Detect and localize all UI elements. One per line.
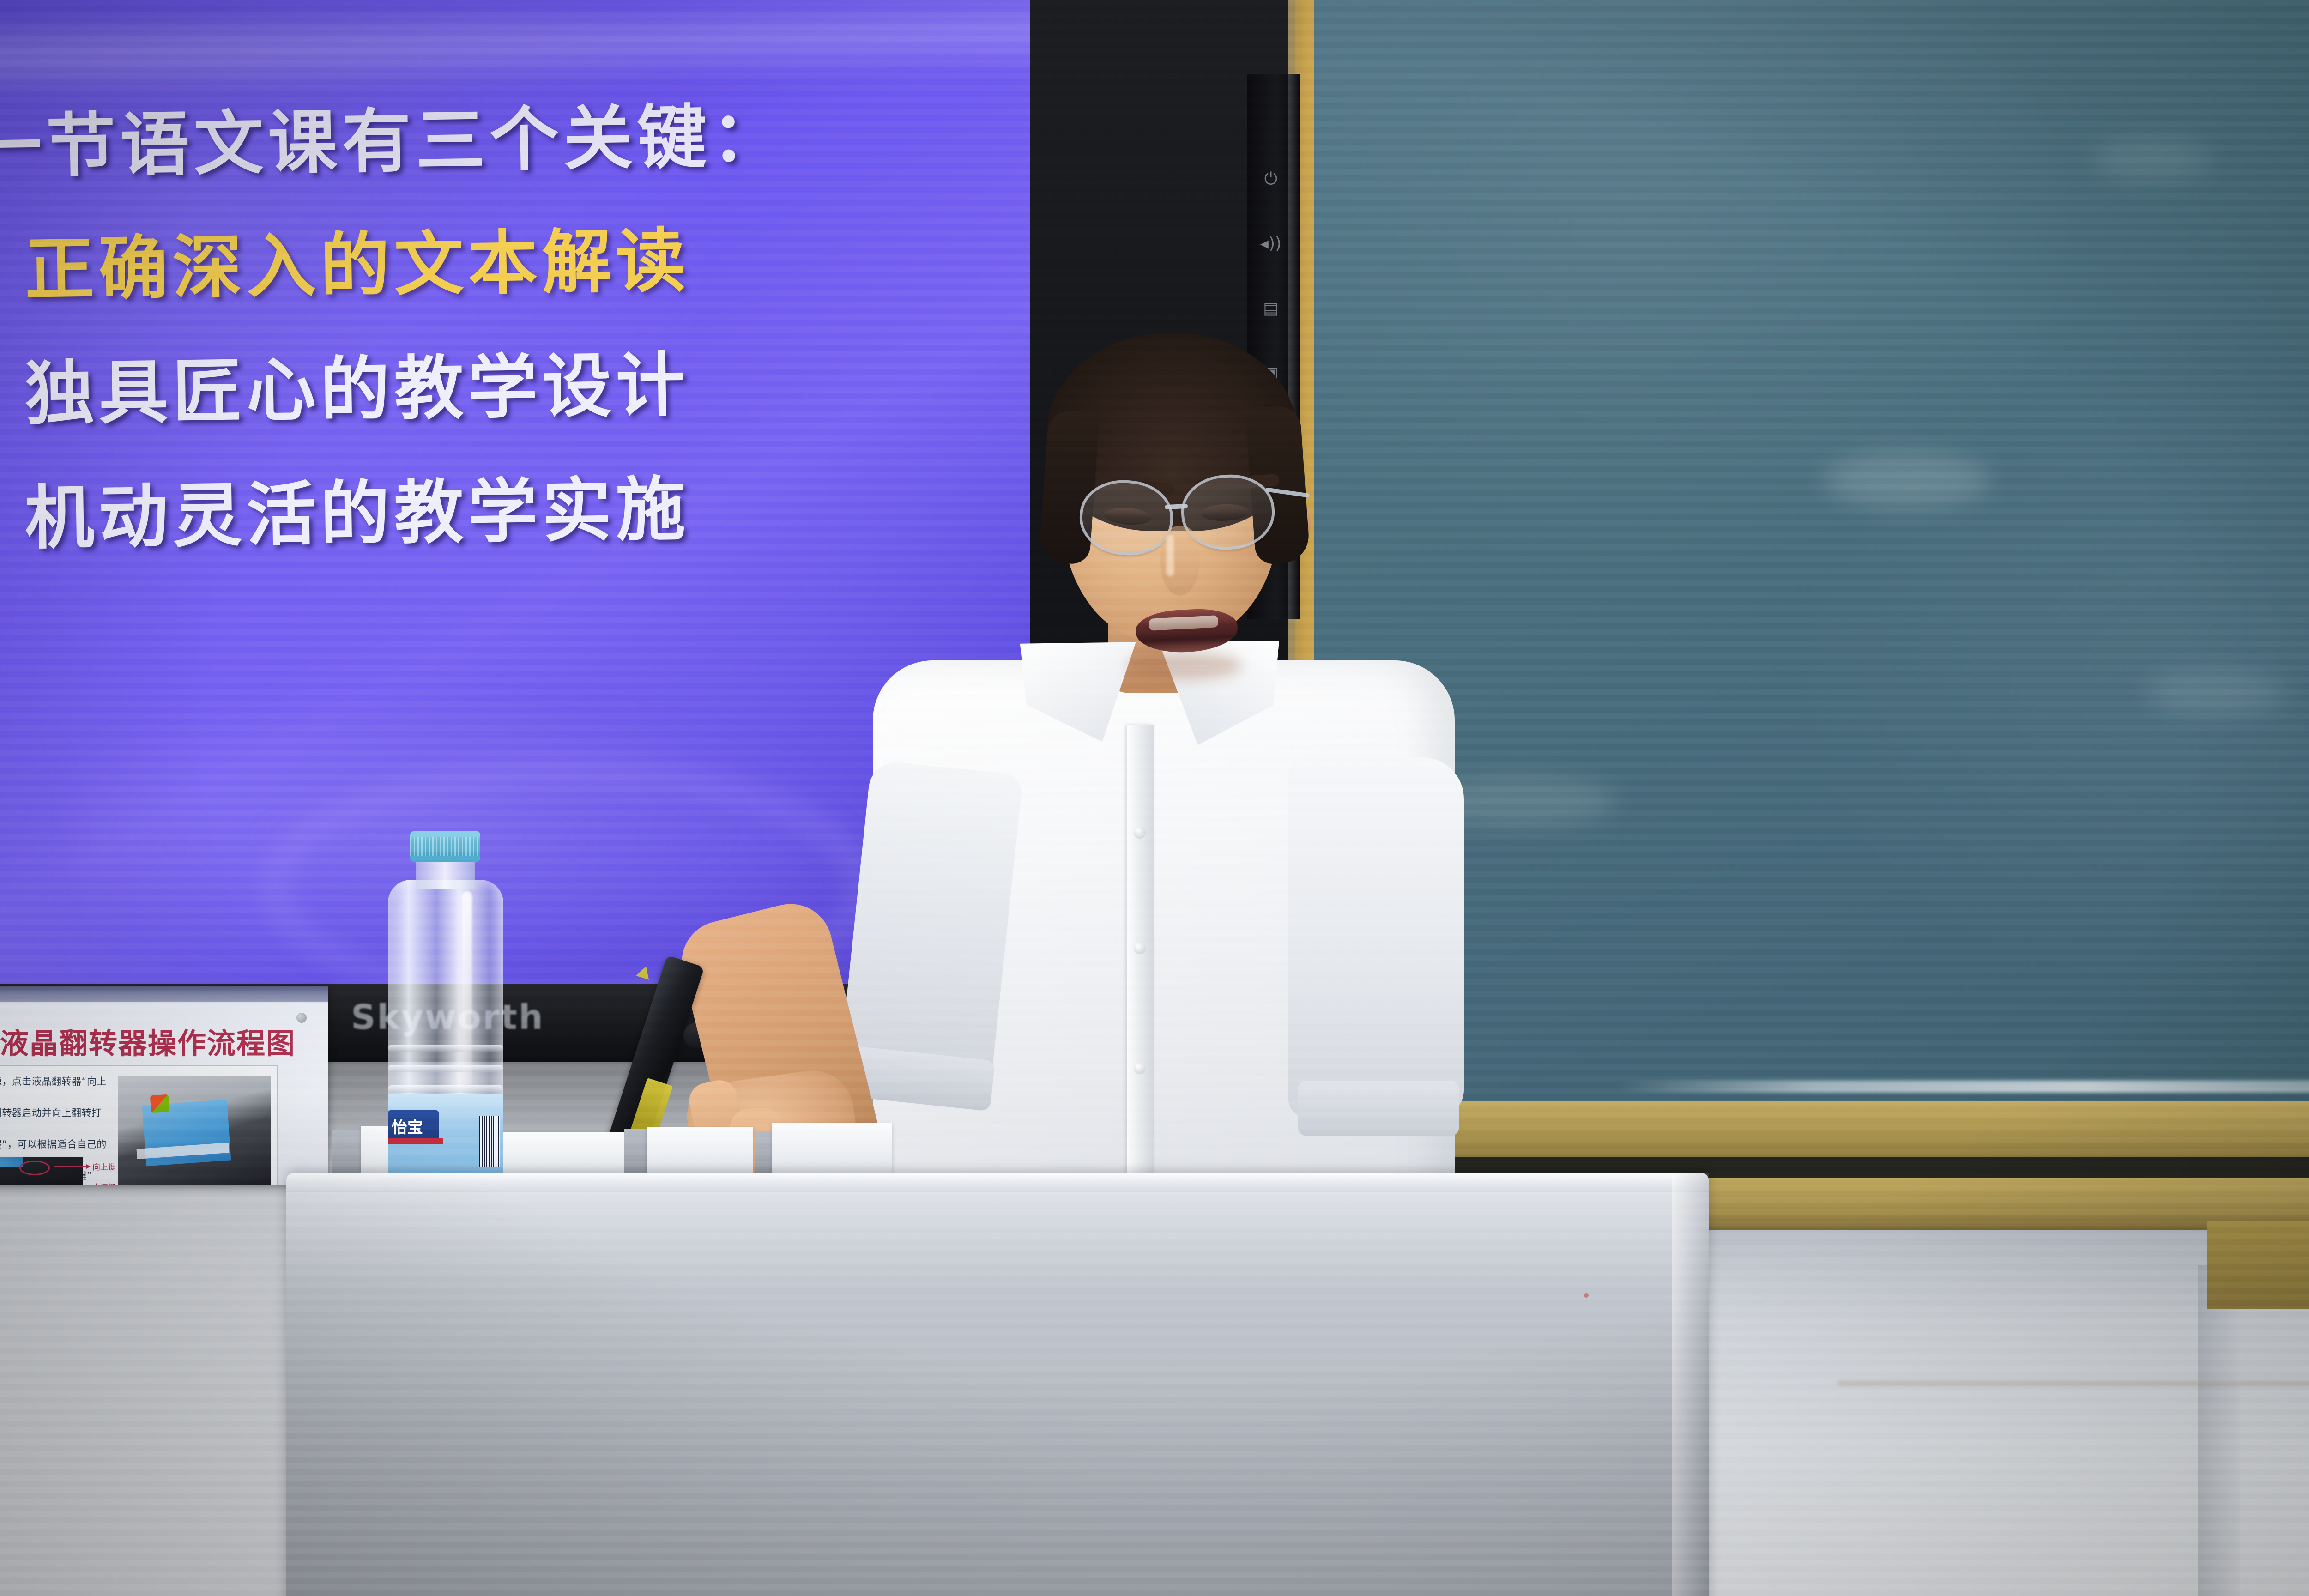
chin-shadow <box>1127 652 1242 680</box>
lectern-top-edge <box>286 1173 1709 1192</box>
bottle-ridge <box>388 1085 503 1093</box>
bottle-ridge <box>388 1065 503 1072</box>
slide-bullet-1: 1. 正确深入的文本解读 <box>0 200 989 316</box>
classroom-photo: 好一节语文课有三个关键： 1. 正确深入的文本解读 2. 独具匠心的教学设计 3… <box>0 0 2309 1596</box>
chalk-dust-line <box>1616 1081 2309 1093</box>
windows-logo-icon <box>150 1094 170 1113</box>
barcode-icon <box>479 1116 500 1167</box>
sign-photo-monitor <box>118 1076 271 1185</box>
right-sleeve <box>1288 757 1464 1118</box>
bottle-label: 怡宝 <box>388 1094 503 1181</box>
nose-highlight <box>1167 535 1174 576</box>
wall-pillar <box>2198 1265 2240 1596</box>
chalk-smudge <box>1824 453 1990 508</box>
label-red-stripe <box>388 1138 443 1144</box>
bottle-brand-text: 怡宝 <box>392 1115 438 1137</box>
shirt-button <box>1134 1062 1146 1074</box>
lcd-flipper-instruction-sign: 液晶翻转器操作流程图 …电源，点击液晶翻转器“向上键” …晶翻转器启动并向上翻转… <box>0 986 328 1185</box>
shirt-button <box>1134 942 1146 954</box>
highlight-ellipse <box>19 1161 50 1175</box>
lectern-side-edge <box>1672 1173 1709 1596</box>
bottle-cap-ribs <box>410 837 480 856</box>
menu-icon[interactable]: ▤ <box>1257 296 1285 321</box>
pushpin-icon <box>296 1013 307 1023</box>
lectern <box>286 1173 1709 1596</box>
chalk-smudge <box>2092 139 2212 180</box>
power-icon[interactable]: ⏻ <box>1257 166 1285 192</box>
bottle-highlight <box>462 891 472 1085</box>
slide-title: 好一节语文课有三个关键： <box>0 77 989 193</box>
shirt-button <box>1134 827 1146 839</box>
chalk-smudge <box>2147 670 2286 716</box>
chalk-tray-bracket <box>2207 1221 2309 1309</box>
sign-top-band <box>0 986 328 1002</box>
right-cuff <box>1298 1081 1459 1136</box>
sign-annotation-up: 向上键 <box>92 1161 116 1172</box>
volume-icon[interactable]: ◂)) <box>1257 231 1285 257</box>
lectern-speck <box>1584 1293 1589 1298</box>
bottle-neck <box>416 858 475 889</box>
bottle-ridge <box>388 1045 503 1052</box>
nose <box>1160 526 1200 596</box>
sign-annotation-mid: 中间键 <box>92 1181 116 1185</box>
sign-title: 液晶翻转器操作流程图 <box>0 1020 305 1062</box>
arrow-icon <box>54 1166 87 1167</box>
